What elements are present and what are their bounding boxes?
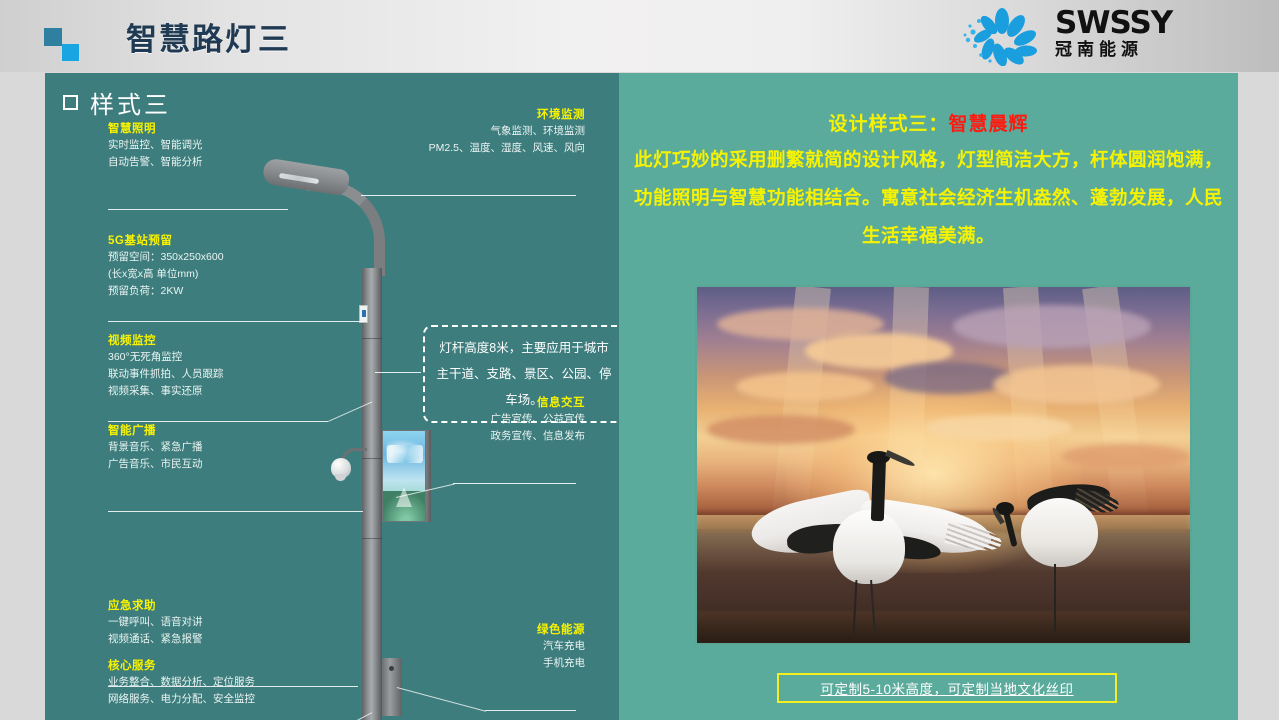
logo-square-dark <box>44 28 62 46</box>
connector-line <box>108 321 365 322</box>
photo-cloud <box>1062 444 1190 469</box>
crane-leg <box>1054 564 1056 633</box>
annotation-line: 广告音乐、市民互动 <box>108 456 203 473</box>
design-style-title: 设计样式三：智慧晨辉 <box>619 109 1238 136</box>
annotation-line: 360°无死角监控 <box>108 349 224 366</box>
annotation-title: 绿色能源 <box>385 622 585 638</box>
camera-lens-icon <box>335 474 346 481</box>
annotation-green-energy: 绿色能源 汽车充电 手机充电 <box>385 622 585 672</box>
crane-wings-spread <box>751 451 1007 636</box>
annotation-line: 实时监控、智能调光 <box>108 137 203 154</box>
design-style-title-prefix: 设计样式三： <box>828 114 948 135</box>
annotation-environment-monitoring: 环境监测 气象监测、环境监测 PM2.5、温度、湿度、风速、风向 <box>325 107 585 157</box>
connector-line <box>375 372 421 373</box>
brand-sub: 冠南能源 <box>1055 39 1217 61</box>
connector-line <box>108 421 328 422</box>
annotation-line: (长x宽x高 单位mm) <box>108 266 224 283</box>
connector-line <box>108 209 288 210</box>
annotation-title: 视频监控 <box>108 333 224 349</box>
annotation-line: PM2.5、温度、湿度、风速、风向 <box>325 140 585 157</box>
connector-line <box>108 511 363 512</box>
crane-leg <box>870 580 876 636</box>
connector-line <box>361 195 576 196</box>
brand-name: SWSSY <box>1055 6 1217 40</box>
customization-caption-text: 可定制5-10米高度，可定制当地文化丝印 <box>820 678 1073 698</box>
pole-seam <box>362 338 382 339</box>
design-style-title-accent: 智慧晨辉 <box>949 114 1029 135</box>
logo-mark-icon <box>44 28 84 62</box>
annotation-5g-reserved: 5G基站预留 预留空间：350x250x600 (长x宽x高 单位mm) 预留负… <box>108 233 224 300</box>
annotation-line: 气象监测、环境监测 <box>325 123 585 140</box>
annotation-line: 视频采集、事实还原 <box>108 383 224 400</box>
pole-seam <box>362 538 382 539</box>
annotation-line: 手机充电 <box>385 655 585 672</box>
crane-body <box>1021 498 1098 567</box>
annotation-core-services: 核心服务 业务整合、数据分析、定位服务 网络服务、电力分配、安全监控 <box>108 658 255 708</box>
connector-line <box>453 483 576 484</box>
brand-cluster: SWSSY 冠南能源 <box>959 6 1217 68</box>
annotation-line: 汽车充电 <box>385 638 585 655</box>
crane-sunset-photo <box>695 285 1192 645</box>
annotation-title: 环境监测 <box>325 107 585 123</box>
crane-body <box>833 510 905 584</box>
crane-neck <box>871 454 886 521</box>
photo-cloud <box>953 305 1150 348</box>
annotation-video-surveillance: 视频监控 360°无死角监控 联动事件抓拍、人员跟踪 视频采集、事实还原 <box>108 333 224 400</box>
photo-cloud <box>707 415 855 443</box>
style-heading: 样式三 <box>63 85 171 120</box>
crane-bowing <box>983 472 1131 636</box>
annotation-title: 应急求助 <box>108 598 203 614</box>
annotation-line: 一键呼叫、语音对讲 <box>108 614 203 631</box>
brand-text: SWSSY 冠南能源 <box>1055 6 1217 61</box>
right-description-panel: 设计样式三：智慧晨辉 此灯巧妙的采用删繁就简的设计风格，灯型简洁大方，杆体圆润饱… <box>619 73 1238 720</box>
annotation-title: 核心服务 <box>108 658 255 674</box>
annotation-title: 智慧照明 <box>108 121 203 137</box>
callout-text: 灯杆高度8米，主要应用于城市主干道、支路、景区、公园、停车场。 <box>425 335 619 413</box>
annotation-title: 5G基站预留 <box>108 233 224 249</box>
annotation-line: 视频通话、紧急报警 <box>108 631 203 648</box>
left-diagram-panel: 样式三 <box>45 73 619 720</box>
annotation-line: 网络服务、电力分配、安全监控 <box>108 691 255 708</box>
flower-petals-logo-icon <box>959 8 1045 66</box>
annotation-line: 背景音乐、紧急广播 <box>108 439 203 456</box>
logo-square-light <box>62 44 79 61</box>
annotation-line: 预留负荷：2KW <box>108 283 224 300</box>
page-title: 智慧路灯三 <box>126 18 291 62</box>
photo-cloud <box>736 372 874 400</box>
style-label: 样式三 <box>90 85 171 120</box>
annotation-line: 自动告警、智能分析 <box>108 154 203 171</box>
annotation-line: 预留空间：350x250x600 <box>108 249 224 266</box>
annotation-smart-broadcast: 智能广播 背景音乐、紧急广播 广告音乐、市民互动 <box>108 423 203 473</box>
annotation-line: 业务整合、数据分析、定位服务 <box>108 674 255 691</box>
lamp-pole <box>362 268 382 720</box>
crane-leg <box>852 580 857 636</box>
annotation-smart-lighting: 智慧照明 实时监控、智能调光 自动告警、智能分析 <box>108 121 203 171</box>
annotation-line: 政务宣传、信息发布 <box>385 428 585 445</box>
screen-headline-glyph <box>387 445 423 463</box>
antenna-indicator-icon <box>362 310 366 317</box>
photo-cloud <box>924 415 1072 440</box>
customization-caption-box: 可定制5-10米高度，可定制当地文化丝印 <box>777 673 1117 703</box>
connector-line <box>485 710 576 711</box>
annotation-title: 智能广播 <box>108 423 203 439</box>
annotation-emergency-help: 应急求助 一键呼叫、语音对讲 视频通话、紧急报警 <box>108 598 203 648</box>
design-description-text: 此灯巧妙的采用删繁就简的设计风格，灯型简洁大方，杆体圆润饱满，功能照明与智慧功能… <box>633 141 1224 255</box>
height-application-callout: 灯杆高度8米，主要应用于城市主干道、支路、景区、公园、停车场。 <box>423 325 619 423</box>
annotation-line: 联动事件抓拍、人员跟踪 <box>108 366 224 383</box>
square-bullet-icon <box>63 95 78 110</box>
photo-cloud <box>884 362 1012 394</box>
page-header: 智慧路灯三 SWSSY 冠南能源 <box>0 0 1279 72</box>
